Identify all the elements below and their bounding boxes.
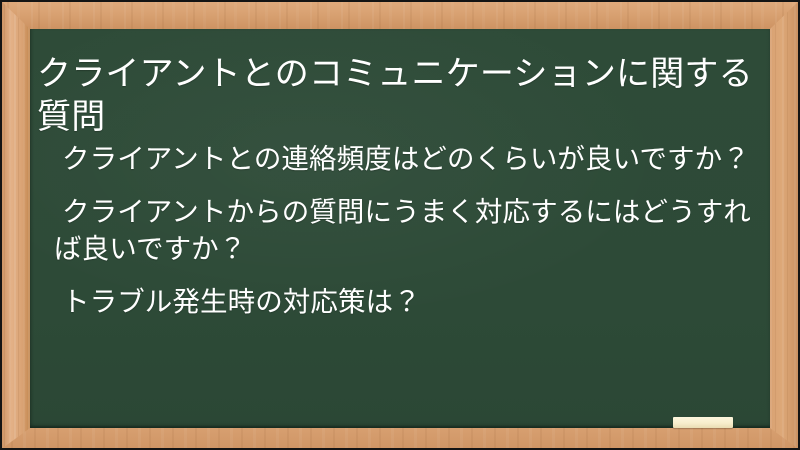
list-item: クライアントとの連絡頻度はどのくらいが良いですか？	[30, 141, 770, 177]
frame-plank-bottom	[0, 428, 800, 450]
slide-title: クライアントとのコミュニケーションに関する質問	[37, 53, 753, 139]
question-list: クライアントとの連絡頻度はどのくらいが良いですか？ クライアントからの質問にうま…	[30, 141, 770, 320]
chalk-stick-icon	[673, 417, 733, 428]
frame-plank-left	[0, 0, 30, 450]
frame-plank-top	[0, 0, 800, 29]
list-item: トラブル発生時の対応策は？	[30, 284, 770, 320]
slide-content: クライアントとのコミュニケーションに関する質問 クライアントとの連絡頻度はどのく…	[30, 29, 770, 428]
list-item: クライアントからの質問にうまく対応するにはどうすれば良いですか？	[30, 194, 770, 267]
frame-plank-right	[770, 0, 800, 450]
chalkboard-slide: クライアントとのコミュニケーションに関する質問 クライアントとの連絡頻度はどのく…	[0, 0, 800, 450]
